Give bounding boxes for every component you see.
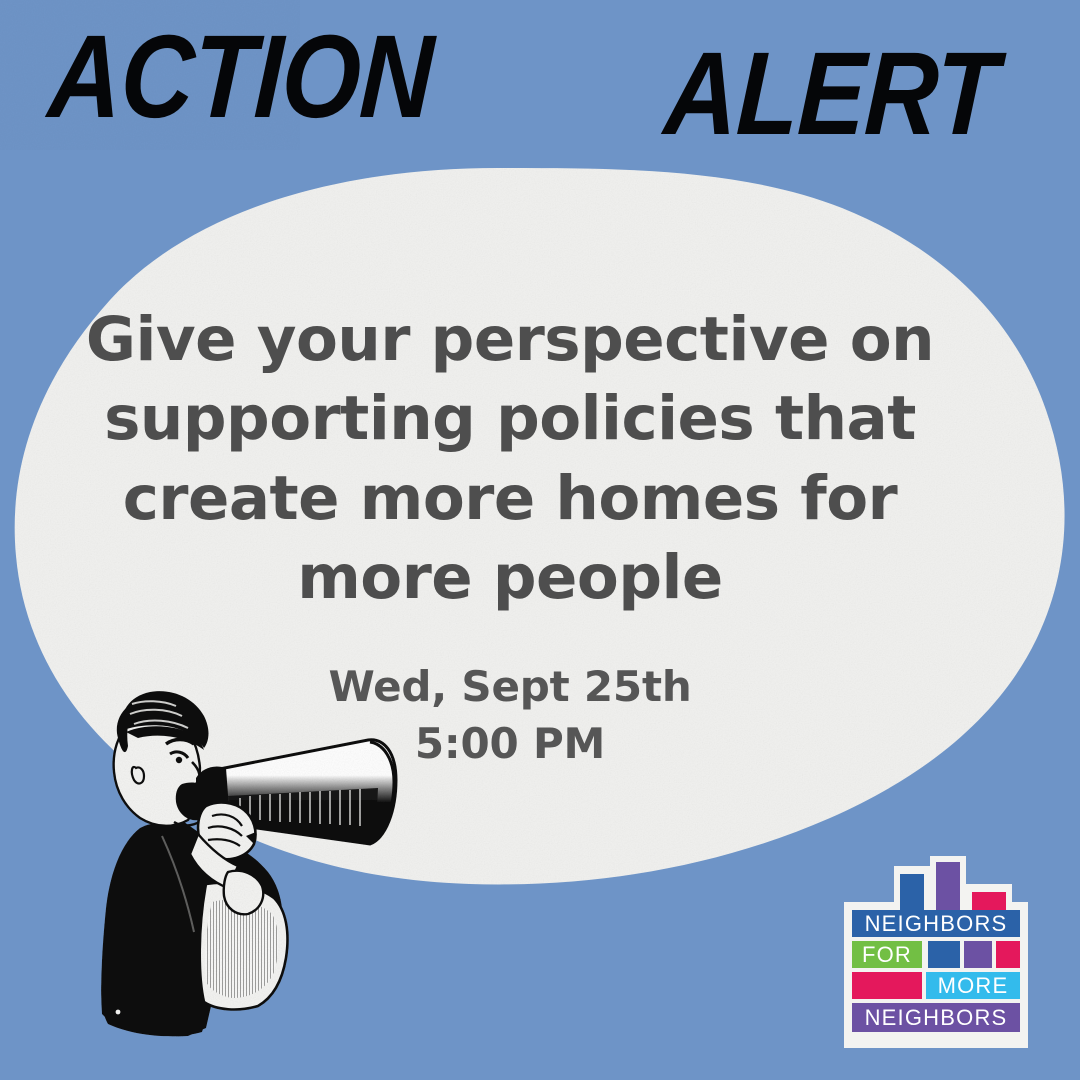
logo-text-more: MORE: [938, 973, 1009, 998]
action-alert-poster: ACTION ALERT Give your perspective on su…: [0, 0, 1080, 1080]
ink-artwork: [101, 691, 396, 1036]
headline-word-alert: ALERT: [662, 35, 999, 153]
message-headline: Give your perspective on supporting poli…: [34, 300, 986, 617]
logo-row-neighbors-top: NEIGHBORS: [852, 910, 1020, 937]
logo-row-more: MORE: [852, 972, 1020, 999]
logo-row-neighbors-bottom: NEIGHBORS: [852, 1003, 1020, 1032]
logo-text-for: FOR: [862, 942, 912, 967]
headline-word-action: ACTION: [46, 18, 435, 136]
megaphone-man-illustration: [78, 676, 408, 1048]
neighbors-for-more-neighbors-logo[interactable]: NEIGHBORS FOR MORE NEIGHBORS: [838, 856, 1042, 1052]
logo-text-neighbors-bottom: NEIGHBORS: [865, 1005, 1008, 1030]
logo-text-neighbors-top: NEIGHBORS: [865, 911, 1008, 936]
